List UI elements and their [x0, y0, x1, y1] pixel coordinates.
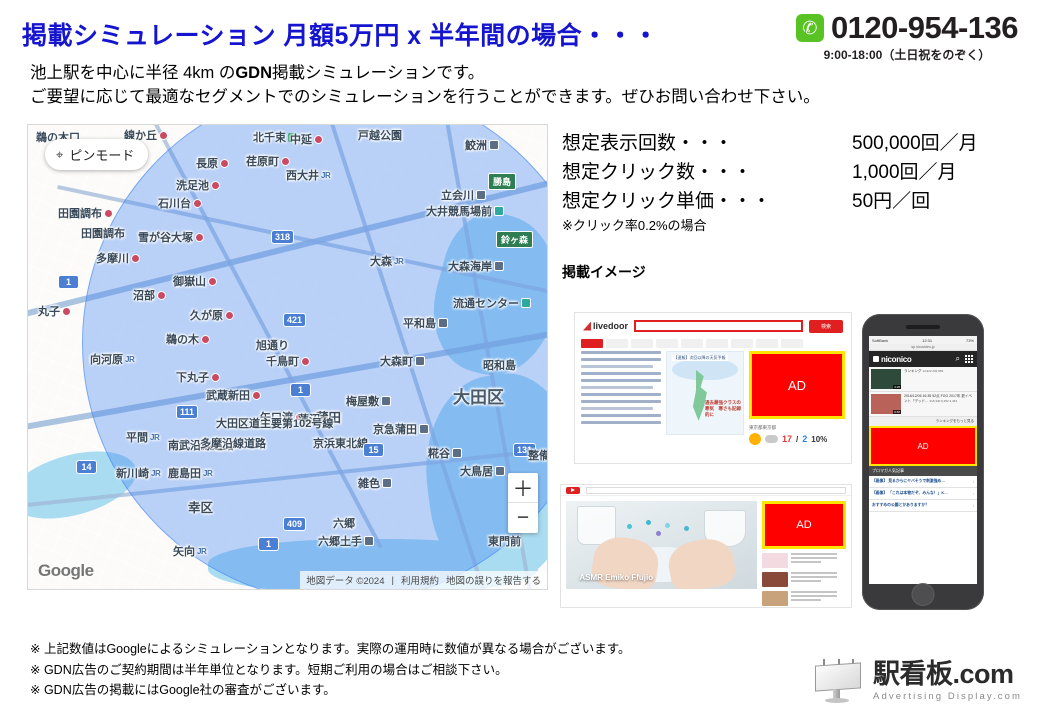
related-meta: [791, 553, 837, 565]
station-square-icon: [452, 448, 462, 458]
map-label-text: 大森海岸: [448, 258, 492, 274]
map-label-text: 石川台: [158, 195, 191, 211]
map-label-text: 京急蒲田: [373, 421, 417, 437]
list-item[interactable]: 3:36 ランキング 14,922 292 683: [869, 367, 977, 392]
blog-item-label: 【画像】 見るからにヤバそうで刺激強め…: [872, 479, 945, 484]
map-label-text: 大森町: [380, 353, 413, 369]
map-label-text: 旭通り: [256, 337, 289, 353]
map-label: 大田区: [453, 383, 504, 408]
map-label: 409: [283, 517, 306, 531]
video-caption: ASMR Emiko Ffujio: [579, 573, 653, 582]
blog-item-label: 【画像】 「これは本物だぞ、みんな！」K…: [872, 491, 948, 496]
map-label: 旭通り: [256, 337, 289, 353]
map-label: 大田区道主要第102号線: [216, 415, 333, 431]
news-tab[interactable]: [731, 339, 753, 348]
news-tab[interactable]: [756, 339, 778, 348]
video-duration: 9:50: [893, 410, 901, 414]
attribution-report[interactable]: 地図の誤りを報告する: [446, 573, 541, 587]
lead-line-2: ご要望に応じて最適なセグメントでのシミュレーションを行うことができます。ぜひお問…: [30, 86, 820, 110]
phone-number: 0120-954-136: [831, 12, 1018, 43]
map-label-text: 大田区道主要第102号線: [216, 415, 333, 431]
ad-placeholder-phone: AD: [869, 426, 977, 466]
map-label: 京急蒲田: [373, 421, 429, 437]
footnote-item: ※ GDN広告の掲載にはGoogle社の審査がございます。: [30, 680, 631, 700]
sun-icon: [749, 433, 761, 445]
map-label-text: 雑色: [358, 475, 380, 491]
station-dot-icon: [195, 233, 204, 242]
map-label-text: 長原: [196, 155, 218, 171]
map-label-text: 北千束: [253, 129, 286, 145]
map-label-text: 大田区: [453, 383, 504, 408]
list-item[interactable]: 【画像】 見るからにヤバそうで刺激強め…›: [869, 476, 977, 488]
map-label: 111: [176, 405, 198, 419]
stats-block: 想定表示回数・・・ 500,000回／月 想定クリック数・・・ 1,000回／月…: [562, 128, 978, 234]
map-label: 平間JR: [126, 429, 159, 445]
map-container[interactable]: ⌖ ピンモード 鵜の木口線か丘北千束中延戸越公園鮫洲荏原町長原西大井JR洗足池勝…: [27, 124, 548, 590]
ranking-link[interactable]: ランキングをもっと見る: [869, 417, 977, 426]
headline-line: [581, 400, 661, 403]
map-label-text: 多摩川: [96, 250, 129, 266]
blog-item-label: おすすめの公園とかありますか？: [872, 503, 929, 508]
niconico-logo: niconico: [873, 355, 912, 364]
related-video-item[interactable]: [762, 553, 846, 568]
map-label: 平和島: [403, 315, 448, 331]
map-label-text: 多摩沿線道路: [200, 435, 266, 451]
area-tag: 勝島: [488, 173, 516, 190]
jr-icon: JR: [321, 171, 330, 180]
stat-row: 想定表示回数・・・ 500,000回／月: [562, 128, 978, 155]
station-square-icon: [489, 140, 499, 150]
map-label-text: 京浜東北線: [313, 435, 368, 451]
map-label-text: 平間: [126, 429, 148, 445]
map-label-text: 幸区: [188, 497, 213, 516]
map-label: 東門前: [488, 533, 521, 549]
headline-line: [581, 372, 661, 375]
video-sidebar: AD: [762, 501, 846, 608]
map-label-text: 久が原: [190, 307, 223, 323]
headline-line: [581, 414, 661, 417]
related-video-item[interactable]: [762, 591, 846, 606]
stat-label: 想定クリック数・・・: [562, 157, 852, 184]
stat-value: 500,000回／月: [852, 128, 978, 155]
brand-tagline: Advertising Display.com: [873, 691, 1022, 702]
news-search-button[interactable]: 検索: [809, 320, 843, 333]
map-label-text: 六郷土手: [318, 533, 362, 549]
brand-name: 駅看板.com: [873, 661, 1022, 688]
route-shield: 111: [176, 405, 198, 419]
station-dot-icon: [301, 357, 310, 366]
news-weather-widget: 東京都東京都 17 / 2 10%: [749, 425, 845, 445]
map-label: 幸区: [188, 497, 213, 516]
jr-icon: JR: [150, 433, 159, 442]
video-header: [561, 485, 851, 496]
news-tab[interactable]: [656, 339, 678, 348]
map-label-text: 新川崎: [116, 465, 149, 481]
station-square-icon: [419, 424, 429, 434]
map-label-text: 東門前: [488, 533, 521, 549]
station-square-icon: [494, 261, 504, 271]
hero-caption-2: 過去最強クラスの寒気 寒さも記録的に: [705, 400, 743, 418]
map-label-text: 丸子: [38, 303, 60, 319]
map-label-text: 戸越公園: [358, 127, 402, 143]
phone-home-button[interactable]: [912, 583, 935, 606]
carrier-label: SoftBank: [872, 338, 888, 343]
headline-line: [581, 365, 653, 368]
weather-title: 東京都東京都: [749, 425, 776, 431]
related-video-item[interactable]: [762, 572, 846, 587]
video-duration: 3:36: [893, 385, 901, 389]
route-shield: 318: [271, 230, 294, 244]
news-hero-image: 【速報】次回以降の天気予報 過去最強クラスの寒気 寒さも記録的に: [666, 351, 744, 435]
stat-note: ※クリック率0.2%の場合: [562, 215, 978, 234]
map-label-text: 中延: [290, 131, 312, 147]
niconico-header-actions[interactable]: ⌕: [956, 354, 973, 364]
news-tabs[interactable]: [575, 339, 851, 351]
map-label: 鵜の木: [166, 331, 210, 347]
news-header: livedoor 検索: [575, 313, 851, 339]
video-search-input[interactable]: [586, 487, 846, 494]
map-label: 沼部: [133, 287, 166, 303]
lead-line-1c: 掲載シミュレーションです。: [272, 64, 484, 82]
news-sidebar: AD 東京都東京都 17 / 2 10%: [749, 351, 845, 445]
video-site-mock: ASMR Emiko Ffujio AD: [560, 484, 852, 608]
map-label-text: 整備場: [528, 447, 548, 463]
headline-line: [581, 407, 653, 410]
station-dot-icon: [201, 335, 210, 344]
headline-line: [581, 386, 653, 389]
map-label: 立会川: [441, 187, 486, 203]
temp-low: 2: [802, 434, 807, 444]
video-body: ASMR Emiko Ffujio AD: [561, 496, 851, 608]
station-dot-icon: [62, 307, 71, 316]
video-title: ランキング 14,922 292 683: [904, 369, 975, 389]
map-label: 新川崎JR: [116, 465, 160, 481]
weather-values: 17 / 2 10%: [749, 433, 845, 445]
route-shield: 1: [258, 537, 279, 551]
map-label-text: 向河原: [90, 351, 123, 367]
billboard-icon: [811, 658, 865, 704]
headline-line: [581, 358, 661, 361]
battery-level: 73%: [966, 338, 974, 343]
map-label: 15: [363, 443, 384, 457]
map-label-text: 矢向: [173, 543, 195, 559]
stat-row: 想定クリック数・・・ 1,000回／月: [562, 157, 978, 184]
stat-label: 想定クリック単価・・・: [562, 186, 852, 213]
monorail-icon: [494, 206, 504, 216]
map-label: 流通センター: [453, 295, 531, 311]
list-item[interactable]: 9:50 2016/12/06 16:35 52点 FGO 2017年 夏イベン…: [869, 392, 977, 417]
niconico-video-list: 3:36 ランキング 14,922 292 683 9:50 2016/12/0…: [869, 367, 977, 426]
station-dot-icon: [220, 159, 229, 168]
jr-icon: JR: [125, 355, 134, 364]
news-tab[interactable]: [581, 339, 603, 348]
map-label: 中延: [290, 131, 323, 147]
livedoor-mark-icon: [583, 322, 591, 331]
news-tab[interactable]: [681, 339, 703, 348]
attribution-terms[interactable]: 利用規約: [401, 573, 439, 587]
map-label: 御嶽山: [173, 273, 217, 289]
video-title-text: ランキング: [904, 369, 921, 373]
phone-status-bar: SoftBank 12:31 73%: [869, 336, 977, 344]
map-label: 矢向JR: [173, 543, 206, 559]
route-shield: 14: [76, 460, 97, 474]
map-label: 石川台: [158, 195, 202, 211]
contact-block: ✆ 0120-954-136 9:00-18:00（土日祝をのぞく）: [796, 12, 1018, 63]
map-label: 昭和島: [483, 357, 516, 373]
map-label-text: 大森: [370, 253, 392, 269]
map-label: 大鳥居: [460, 463, 505, 479]
station-dot-icon: [208, 277, 217, 286]
list-item[interactable]: おすすめの公園とかありますか？›: [869, 500, 977, 512]
map-label-text: 流通センター: [453, 295, 519, 311]
phone-icon: ✆: [796, 14, 824, 42]
livedoor-logo-text: livedoor: [593, 321, 628, 331]
bead-dot: [684, 526, 689, 531]
map-label: 田園調布: [58, 205, 113, 221]
map-label-text: 梅屋敷: [346, 393, 379, 409]
map-label: 糀谷: [428, 445, 462, 461]
chevron-right-icon: ›: [973, 480, 974, 484]
monorail-icon: [521, 298, 531, 308]
map-label: 1: [58, 275, 79, 289]
map-label-text: 洗足池: [176, 177, 209, 193]
map-label: 鮫洲: [465, 137, 499, 153]
map-label: 1: [258, 537, 279, 551]
station-square-icon: [438, 318, 448, 328]
map-label: 下丸子: [176, 369, 220, 385]
niconico-header: niconico ⌕: [869, 351, 977, 367]
brand-text: 駅看板.com Advertising Display.com: [873, 661, 1022, 702]
map-label: 荏原町: [246, 153, 290, 169]
video-stats: 14,922 292 683: [922, 369, 943, 373]
niconico-logo-text: niconico: [881, 355, 912, 364]
map-label: 六郷土手: [318, 533, 374, 549]
station-dot-icon: [252, 391, 261, 400]
jr-icon: JR: [203, 469, 212, 478]
route-shield: 1: [290, 383, 311, 397]
slide-root: 掲載シミュレーション 月額5万円 x 半年間の場合・・・ ✆ 0120-954-…: [0, 0, 1040, 720]
route-shield: 1: [58, 275, 79, 289]
map-label: 雪が谷大塚: [138, 229, 204, 245]
map-label: 大森JR: [370, 253, 403, 269]
map-label-text: 昭和島: [483, 357, 516, 373]
map-label: 戸越公園: [358, 127, 402, 143]
map-label: 多摩川: [96, 250, 140, 266]
news-site-mock: livedoor 検索 【速報】次回以降の天気予報 過去最強: [574, 312, 852, 464]
video-title: 2016/12/06 16:35 52点 FGO 2017年 夏イベント『デッド…: [904, 394, 975, 414]
map-label: 318: [271, 230, 294, 244]
news-body: 【速報】次回以降の天気予報 過去最強クラスの寒気 寒さも記録的に AD 東京都東…: [575, 351, 851, 445]
map-label-text: 六郷: [333, 515, 355, 531]
map-attribution: 地図データ ©2024 | 利用規約 地図の誤りを報告する: [300, 571, 547, 589]
status-time: 12:31: [922, 338, 932, 343]
stat-value: 1,000回／月: [852, 157, 957, 184]
map-label: 多摩沿線道路: [200, 435, 266, 451]
station-dot-icon: [159, 131, 168, 140]
video-date: 2016/12/06 16:35 52点: [904, 394, 940, 398]
map-label: 久が原: [190, 307, 234, 323]
headline-line: [581, 379, 661, 382]
lead-paragraph: 池上駅を中心に半径 4km のGDN掲載シミュレーションです。 ご要望に応じて最…: [30, 62, 820, 110]
map-label: 田園調布: [81, 225, 125, 241]
bead-dot: [656, 531, 661, 536]
map-label-text: 沼部: [133, 287, 155, 303]
news-search-input[interactable]: [634, 320, 803, 332]
map-label-text: 鹿島田: [168, 465, 201, 481]
map-label: 1: [290, 383, 311, 397]
map-label: 大井競馬場前: [426, 203, 504, 219]
headline-line: [581, 393, 661, 396]
blomaga-heading: ブロマガ人気記事: [869, 466, 977, 476]
map-label-text: 下丸子: [176, 369, 209, 385]
map-label-text: 田園調布: [81, 225, 125, 241]
search-icon[interactable]: ⌕: [956, 354, 960, 364]
livedoor-logo: livedoor: [583, 321, 628, 331]
station-square-icon: [381, 396, 391, 406]
area-tag: 鈴ヶ森: [496, 231, 533, 248]
map-label: 向河原JR: [90, 351, 134, 367]
hero-caption: 【速報】次回以降の天気予報: [672, 355, 728, 361]
map-label: 421: [283, 313, 306, 327]
weather-cloud-shape: [672, 359, 739, 380]
map-label: 西大井JR: [286, 167, 330, 183]
ad-placeholder-video: AD: [762, 501, 846, 549]
related-meta: [791, 572, 837, 584]
map-pin-icon: ⌖: [56, 147, 63, 163]
attribution-data: 地図データ ©2024: [306, 573, 384, 587]
map-label: 鹿島田JR: [168, 465, 212, 481]
map-label: 雑色: [358, 475, 392, 491]
station-square-icon: [476, 190, 486, 200]
ad-placeholder-pc: AD: [749, 351, 845, 419]
smartphone-mockup: SoftBank 12:31 73% sp.nicovideo.jp nicon…: [862, 314, 984, 610]
map-label-text: 立会川: [441, 187, 474, 203]
jr-icon: JR: [151, 469, 160, 478]
google-logo: Google: [38, 561, 94, 581]
related-thumbnail: [762, 553, 788, 568]
news-tab[interactable]: [706, 339, 728, 348]
station-square-icon: [382, 478, 392, 488]
cloud-icon: [765, 435, 778, 443]
footnote-item: ※ 上記数値はGoogleによるシミュレーションとなります。実際の運用時に数値が…: [30, 639, 631, 659]
phone-url-bar[interactable]: sp.nicovideo.jp: [869, 344, 977, 351]
headline-line: [581, 421, 661, 424]
billboard-panel: [815, 662, 861, 691]
map-label-text: 糀谷: [428, 445, 450, 461]
route-shield: 421: [283, 313, 306, 327]
map-label-text: 雪が谷大塚: [138, 229, 193, 245]
route-shield: 409: [283, 517, 306, 531]
video-stats: 315,340 6,352 3,464: [929, 399, 957, 403]
brand-logo: 駅看板.com Advertising Display.com: [811, 658, 1022, 704]
station-dot-icon: [131, 254, 140, 263]
related-thumbnail: [762, 591, 788, 606]
news-tab[interactable]: [606, 339, 628, 348]
map-label: 京浜東北線: [313, 435, 368, 451]
station-dot-icon: [211, 373, 220, 382]
news-headline-list: [581, 351, 661, 445]
map-label-text: 鵜の木: [166, 331, 199, 347]
list-item[interactable]: 【画像】 「これは本物だぞ、みんな！」K…›: [869, 488, 977, 500]
station-dot-icon: [281, 157, 290, 166]
phone-hours: 9:00-18:00（土日祝をのぞく）: [796, 46, 1018, 63]
map-label: 洗足池: [176, 177, 220, 193]
station-dot-icon: [314, 135, 323, 144]
map-label: 大森町: [380, 353, 425, 369]
billboard-base: [825, 698, 849, 703]
news-tab[interactable]: [631, 339, 653, 348]
related-meta: [791, 591, 837, 603]
temp-separator: /: [796, 435, 798, 444]
video-thumbnail: 3:36: [871, 369, 901, 389]
station-square-icon: [415, 356, 425, 366]
jr-icon: JR: [197, 547, 206, 556]
map-label: 鈴ヶ森: [496, 231, 533, 248]
video-player[interactable]: ASMR Emiko Ffujio: [566, 501, 757, 589]
pin-mode-label: ピンモード: [69, 145, 134, 164]
route-shield: 15: [363, 443, 384, 457]
footnote-item: ※ GDN広告のご契約期間は半年単位となります。短期ご利用の場合はご相談下さい。: [30, 660, 631, 680]
map-label-text: 大鳥居: [460, 463, 493, 479]
map-label-text: 武蔵新田: [206, 387, 250, 403]
map-label: 丸子: [38, 303, 71, 319]
lead-gdn: GDN: [235, 64, 272, 82]
map-label: 千鳥町: [266, 353, 310, 369]
station-dot-icon: [225, 311, 234, 320]
headline-line: [581, 351, 661, 354]
map-label: 六郷: [333, 515, 355, 531]
map-label-text: 千鳥町: [266, 353, 299, 369]
phone-screen: SoftBank 12:31 73% sp.nicovideo.jp nicon…: [869, 336, 977, 584]
youtube-logo-icon: [566, 487, 580, 494]
station-dot-icon: [104, 209, 113, 218]
station-dot-icon: [193, 199, 202, 208]
map-label-text: 田園調布: [58, 205, 102, 221]
station-square-icon: [364, 536, 374, 546]
bead-dot: [627, 524, 632, 529]
map-label-text: 御嶽山: [173, 273, 206, 289]
news-tab[interactable]: [781, 339, 803, 348]
map-label-text: 西大井: [286, 167, 319, 183]
zoom-in-button[interactable]: ＋: [508, 473, 538, 503]
map-label: 大森海岸: [448, 258, 504, 274]
map-label-text: 鮫洲: [465, 137, 487, 153]
grid-icon[interactable]: [965, 355, 973, 363]
phone-speaker: [906, 325, 940, 329]
map-label: 武蔵新田: [206, 387, 261, 403]
station-dot-icon: [211, 181, 220, 190]
stat-row: 想定クリック単価・・・ 50円／回: [562, 186, 978, 213]
weather-header: 東京都東京都: [749, 425, 845, 431]
chevron-right-icon: ›: [973, 504, 974, 508]
attribution-divider: |: [392, 575, 394, 586]
map-zoom-controls[interactable]: ＋ −: [508, 473, 538, 533]
map-label: 勝島: [488, 173, 516, 190]
lead-line-1a: 池上駅を中心に半径 4km の: [30, 64, 235, 82]
map-label: 14: [76, 460, 97, 474]
jr-icon: JR: [394, 257, 403, 266]
pin-mode-button[interactable]: ⌖ ピンモード: [45, 139, 148, 170]
map-label: 長原: [196, 155, 229, 171]
map-label-text: 平和島: [403, 315, 436, 331]
station-square-icon: [495, 466, 505, 476]
map-label: 梅屋敷: [346, 393, 391, 409]
chevron-right-icon: ›: [973, 492, 974, 496]
map-label-text: 荏原町: [246, 153, 279, 169]
lead-line-1: 池上駅を中心に半径 4km のGDN掲載シミュレーションです。: [30, 62, 820, 86]
stat-value: 50円／回: [852, 186, 930, 213]
zoom-out-button[interactable]: −: [508, 503, 538, 533]
